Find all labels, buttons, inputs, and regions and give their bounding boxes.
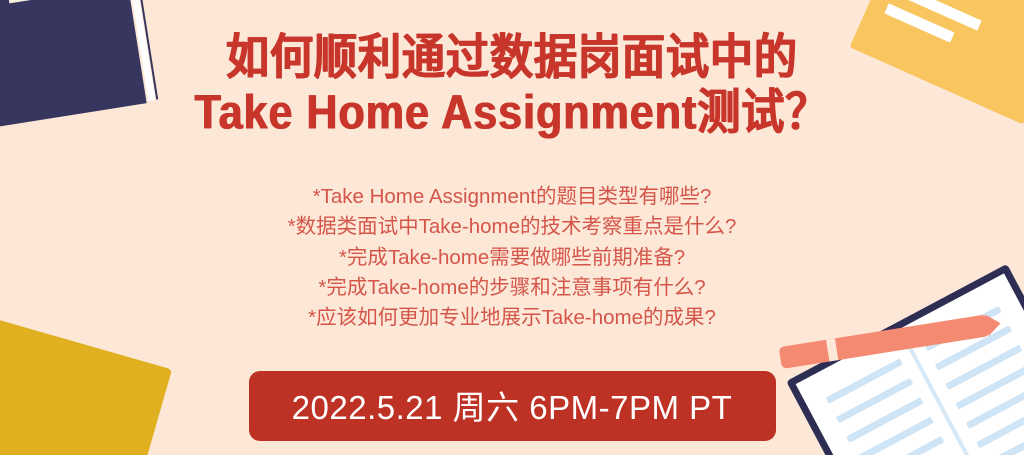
topic-list: *Take Home Assignment的题目类型有哪些? *数据类面试中Ta…	[288, 182, 737, 334]
list-item: *Take Home Assignment的题目类型有哪些?	[288, 182, 737, 212]
title-line-2: Take Home Assignment测试？	[195, 88, 830, 139]
list-item: *数据类面试中Take-home的技术考察重点是什么?	[288, 212, 737, 242]
event-datetime-banner: 2022.5.21 周六 6PM-7PM PT	[249, 371, 776, 441]
list-item: *完成Take-home的步骤和注意事项有什么?	[288, 273, 737, 303]
list-item: *完成Take-home需要做哪些前期准备?	[288, 243, 737, 273]
list-item: *应该如何更加专业地展示Take-home的成果?	[288, 303, 737, 333]
title-line-1: 如何顺利通过数据岗面试中的	[195, 33, 830, 84]
page-title: 如何顺利通过数据岗面试中的 Take Home Assignment测试？	[195, 36, 830, 136]
poster-content: 如何顺利通过数据岗面试中的 Take Home Assignment测试？ *T…	[0, 0, 1024, 455]
promo-poster: 如何顺利通过数据岗面试中的 Take Home Assignment测试？ *T…	[0, 0, 1024, 455]
